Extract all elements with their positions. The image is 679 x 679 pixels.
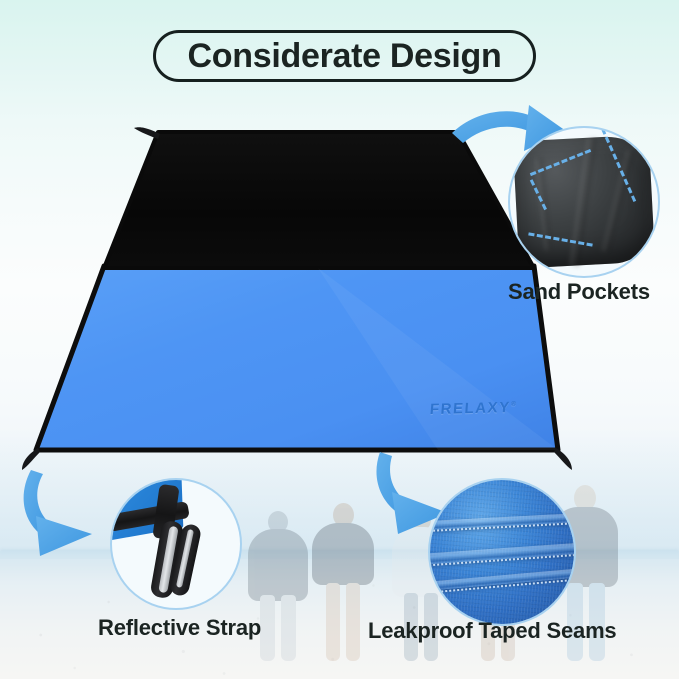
corner-loop-bottom-left — [22, 448, 40, 470]
mat-black-panel — [104, 132, 534, 268]
person-leg — [260, 595, 275, 661]
sand-pockets-image — [508, 126, 660, 278]
person-silhouette — [312, 503, 374, 661]
sand-pockets-label: Sand Pockets — [508, 279, 650, 305]
person-leg — [346, 583, 360, 661]
reflective-strap-artwork — [112, 480, 240, 608]
page-title: Considerate Design — [188, 39, 502, 73]
corner-loop-bottom-right — [554, 448, 572, 470]
product-mat: FRELAXY® — [18, 118, 578, 478]
mat-illustration — [18, 118, 578, 478]
infographic-canvas: Considerate Design — [0, 0, 679, 679]
brand-logo: FRELAXY® — [429, 399, 516, 418]
page-title-box: Considerate Design — [153, 30, 536, 82]
taped-seams-image — [428, 478, 576, 626]
brand-trademark-mark: ® — [511, 401, 517, 408]
sand-pocket-artwork — [510, 128, 658, 276]
corner-loop-top-right — [456, 127, 482, 139]
reflective-strap-image — [110, 478, 242, 610]
person-leg — [326, 583, 340, 661]
person-leg — [281, 595, 296, 661]
person-torso — [312, 523, 374, 585]
taped-seams-label: Leakproof Taped Seams — [368, 618, 616, 644]
person-torso — [248, 529, 308, 601]
reflective-strap-label: Reflective Strap — [98, 615, 261, 641]
corner-loop-top-left — [134, 127, 160, 139]
brand-logo-text: FRELAXY — [429, 399, 511, 418]
taped-seams-artwork — [430, 480, 574, 624]
